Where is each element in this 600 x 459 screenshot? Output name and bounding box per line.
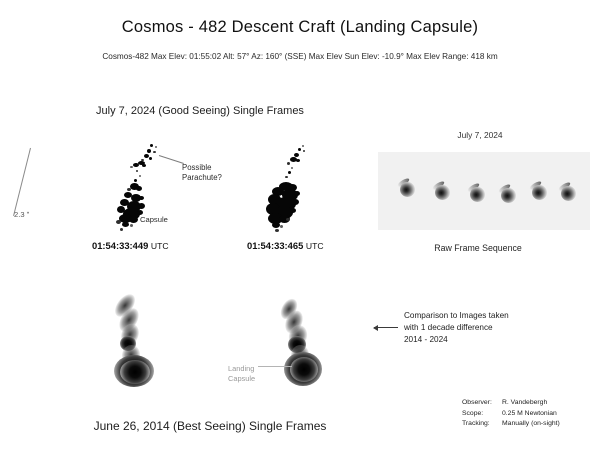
timestamp-left-frame: 01:54:33:449 UTC <box>92 240 169 251</box>
comparison-note-line3: 2014 - 2024 <box>404 334 509 346</box>
credits-key-scope: Scope: <box>462 409 502 420</box>
comparison-note-line1: Comparison to Images taken <box>404 310 509 322</box>
credits-key-tracking: Tracking: <box>462 419 502 430</box>
credits-value-scope: 0.25 M Newtonian <box>502 409 566 420</box>
scale-bar-line <box>13 148 31 216</box>
annotation-capsule: Capsule <box>140 215 168 225</box>
comparison-note-line2: with 1 decade difference <box>404 322 509 334</box>
scale-bar-label: 2.3 ʺ <box>14 210 29 219</box>
credits-row: Observer: R. Vandebergh <box>462 398 566 409</box>
raw-panel-caption: Raw Frame Sequence <box>393 243 563 253</box>
annotation-parachute-line2: Parachute? <box>182 173 222 183</box>
credits-table: Observer: R. Vandebergh Scope: 0.25 M Ne… <box>462 398 566 430</box>
timestamp-left-unit: UTC <box>151 241 169 251</box>
credits-value-tracking: Manually (on-sight) <box>502 419 566 430</box>
credits-rows: Observer: R. Vandebergh Scope: 0.25 M Ne… <box>462 398 566 430</box>
credits-row: Scope: 0.25 M Newtonian <box>462 409 566 420</box>
raw-panel-date: July 7, 2024 <box>400 130 560 140</box>
frame-2024-right <box>262 142 332 238</box>
timestamp-left-value: 01:54:33:449 <box>92 240 148 251</box>
timestamp-right-frame: 01:54:33:465 UTC <box>247 240 324 251</box>
frame-2014-left <box>88 292 198 397</box>
page-title: Cosmos - 482 Descent Craft (Landing Caps… <box>0 18 600 37</box>
timestamp-right-value: 01:54:33:465 <box>247 240 303 251</box>
annotation-landing-capsule: Landing Capsule <box>228 364 255 383</box>
raw-frame-sequence-panel <box>378 152 590 230</box>
annotation-parachute-line1: Possible <box>182 163 222 173</box>
poster-canvas: Cosmos - 482 Descent Craft (Landing Caps… <box>0 0 600 459</box>
frame-2014-right <box>262 294 372 399</box>
credits-value-observer: R. Vandebergh <box>502 398 566 409</box>
comparison-note: Comparison to Images taken with 1 decade… <box>404 310 509 346</box>
comparison-arrow-icon <box>374 327 398 328</box>
landing-capsule-leader-line <box>258 366 292 367</box>
pass-parameters-subtitle: Cosmos-482 Max Elev: 01:55:02 Alt: 57° A… <box>0 52 600 61</box>
credits-row: Tracking: Manually (on-sight) <box>462 419 566 430</box>
credits-block: Observer: R. Vandebergh Scope: 0.25 M Ne… <box>462 398 566 430</box>
annotation-landing-line2: Capsule <box>228 374 255 384</box>
section-heading-2014: June 26, 2014 (Best Seeing) Single Frame… <box>0 419 420 433</box>
section-heading-2024: July 7, 2024 (Good Seeing) Single Frames <box>0 105 400 117</box>
annotation-landing-line1: Landing <box>228 364 255 374</box>
annotation-possible-parachute: Possible Parachute? <box>182 163 222 183</box>
credits-key-observer: Observer: <box>462 398 502 409</box>
timestamp-right-unit: UTC <box>306 241 324 251</box>
